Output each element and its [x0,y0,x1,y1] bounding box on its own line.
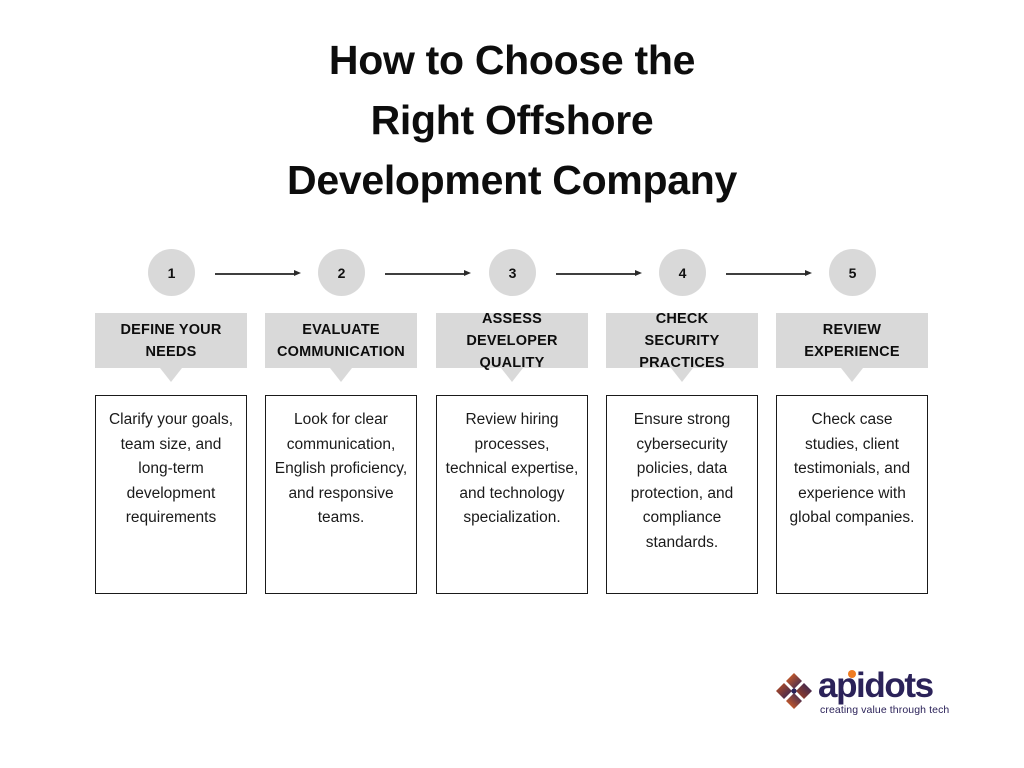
apidots-logo: apidots creating value through tech [774,668,934,716]
column-header-label-4: CHECK SECURITY PRACTICES [606,308,758,374]
column-header-1: DEFINE YOUR NEEDS [95,313,247,368]
logo-tagline: creating value through tech [820,704,949,716]
logo-i-dot-icon [848,670,856,678]
column-header-2: EVALUATE COMMUNICATION [265,313,417,368]
column-header-label-1: DEFINE YOUR NEEDS [95,319,247,363]
column-header-3: ASSESS DEVELOPER QUALITY [436,313,588,368]
logo-wordmark: apidots [818,668,933,704]
column-body-text-2: Look for clear communication, English pr… [274,408,408,593]
column-header-tail-4 [671,368,693,382]
column-header-tail-3 [501,368,523,382]
column-body-2: Look for clear communication, English pr… [265,395,417,594]
column-body-1: Clarify your goals, team size, and long-… [95,395,247,594]
column-body-text-5: Check case studies, client testimonials,… [785,408,919,593]
column-header-tail-1 [160,368,182,382]
column-header-label-5: REVIEW EXPERIENCE [776,319,928,363]
column-body-text-3: Review hiring processes, technical exper… [445,408,579,593]
column-body-4: Ensure strong cybersecurity policies, da… [606,395,758,594]
column-header-label-3: ASSESS DEVELOPER QUALITY [436,308,588,374]
column-header-tail-5 [841,368,863,382]
column-body-5: Check case studies, client testimonials,… [776,395,928,594]
column-body-text-4: Ensure strong cybersecurity policies, da… [615,408,749,593]
column-body-text-1: Clarify your goals, team size, and long-… [104,408,238,593]
column-body-3: Review hiring processes, technical exper… [436,395,588,594]
column-header-tail-2 [330,368,352,382]
column-header-label-2: EVALUATE COMMUNICATION [265,319,417,363]
column-header-5: REVIEW EXPERIENCE [776,313,928,368]
column-header-4: CHECK SECURITY PRACTICES [606,313,758,368]
apidots-diamond-mark-icon [774,671,814,711]
process-columns: DEFINE YOUR NEEDS Clarify your goals, te… [0,0,1024,768]
